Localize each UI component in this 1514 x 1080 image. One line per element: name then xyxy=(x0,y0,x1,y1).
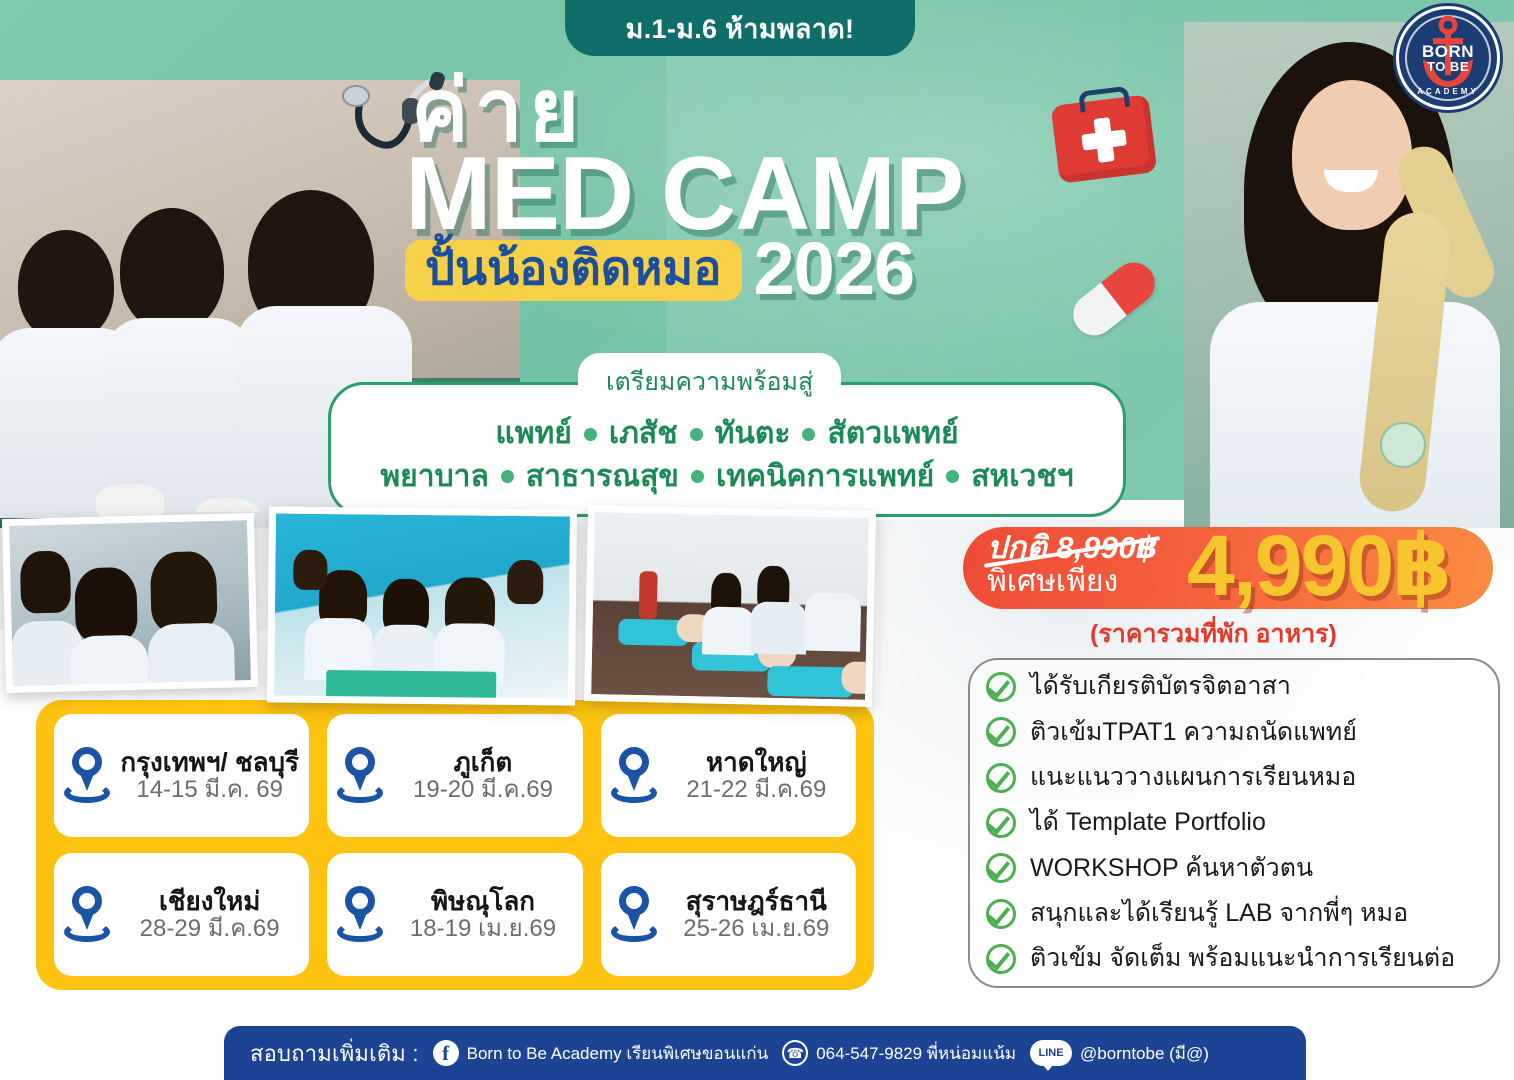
gallery-photo-3 xyxy=(584,505,876,707)
location-card[interactable]: สุราษฎร์ธานี 25-26 เม.ย.69 xyxy=(601,853,856,976)
map-pin-icon xyxy=(60,884,114,946)
headline-thai-sub: ปั้นน้องติดหมอ xyxy=(405,240,742,301)
headline-block: ค่าย MED CAMP ปั้นน้องติดหมอ 2026 xyxy=(405,72,1105,301)
benefit-item: ได้ Template Portfolio xyxy=(986,808,1482,838)
facebook-text: Born to Be Academy เรียนพิเศษขอนแก่น xyxy=(467,1040,769,1067)
fields-row-1: แพทย์ เภสัช ทันตะ สัตวแพทย์ xyxy=(347,413,1107,456)
location-name: สุราษฎร์ธานี xyxy=(686,887,827,915)
line-contact[interactable]: LINE @borntobe (มี@) xyxy=(1030,1040,1209,1067)
fields-row-2: พยาบาล สาธารณสุข เทคนิคการแพทย์ สหเวชฯ xyxy=(347,456,1107,499)
price-badge: ปกติ 8,990฿ พิเศษเพียง 4,990฿ xyxy=(963,527,1493,609)
top-banner-text: ม.1-ม.6 ห้ามพลาด! xyxy=(626,7,855,50)
location-name: พิษณุโลก xyxy=(431,887,535,915)
logo-badge: BORN TO BE ACADEMY xyxy=(1396,6,1500,110)
location-card[interactable]: เชียงใหม่ 28-29 มี.ค.69 xyxy=(54,853,309,976)
location-date: 21-22 มี.ค.69 xyxy=(686,777,826,803)
logo-line1: BORN xyxy=(1422,43,1474,60)
location-date: 25-26 เม.ย.69 xyxy=(683,916,829,942)
bullet-dot-icon xyxy=(584,428,597,441)
bullet-dot-icon xyxy=(946,470,959,483)
benefit-item: ติวเข้มTPAT1 ความถนัดแพทย์ xyxy=(986,717,1482,747)
map-pin-icon xyxy=(333,745,387,807)
prep-label-text: เตรียมความพร้อมสู่ xyxy=(606,368,813,396)
field-item: สาธารณสุข xyxy=(526,456,679,499)
field-item: เภสัช xyxy=(609,413,678,456)
field-item: แพทย์ xyxy=(495,413,571,456)
benefit-text: ได้รับเกียรติบัตรจิตอาสา xyxy=(1030,672,1291,702)
prep-label-pill: เตรียมความพร้อมสู่ xyxy=(578,353,841,411)
field-item: พยาบาล xyxy=(380,456,488,499)
benefit-text: ติวเข้ม จัดเต็ม พร้อมแนะนำการเรียนต่อ xyxy=(1030,944,1455,974)
check-circle-icon xyxy=(986,763,1016,793)
check-circle-icon xyxy=(986,717,1016,747)
check-circle-icon xyxy=(986,944,1016,974)
poster-root: ม.1-ม.6 ห้ามพลาด! BORN TO BE ACADEMY ค่า… xyxy=(0,0,1514,1080)
location-card[interactable]: หาดใหญ่ 21-22 มี.ค.69 xyxy=(601,714,856,837)
check-circle-icon xyxy=(986,808,1016,838)
benefit-item: สนุกและได้เรียนรู้ LAB จากพี่ๆ หมอ xyxy=(986,899,1482,929)
benefit-text: ได้ Template Portfolio xyxy=(1030,808,1266,838)
facebook-contact[interactable]: f Born to Be Academy เรียนพิเศษขอนแก่น xyxy=(433,1040,769,1067)
bullet-dot-icon xyxy=(501,470,514,483)
phone-contact[interactable]: ☎ 064-547-9829 พี่หน่อมแน้ม xyxy=(782,1040,1016,1067)
benefits-panel: ได้รับเกียรติบัตรจิตอาสา ติวเข้มTPAT1 คว… xyxy=(968,658,1500,988)
price-original: ปกติ 8,990฿ xyxy=(987,532,1158,565)
check-circle-icon xyxy=(986,899,1016,929)
map-pin-icon xyxy=(60,745,114,807)
gallery-photo-1 xyxy=(2,513,258,693)
location-card[interactable]: พิษณุโลก 18-19 เม.ย.69 xyxy=(327,853,582,976)
phone-icon: ☎ xyxy=(782,1040,808,1066)
location-date: 19-20 มี.ค.69 xyxy=(413,777,553,803)
field-item: เทคนิคการแพทย์ xyxy=(716,456,934,499)
field-item: สัตวแพทย์ xyxy=(827,413,958,456)
location-card[interactable]: กรุงเทพฯ/ ชลบุรี 14-15 มี.ค. 69 xyxy=(54,714,309,837)
benefit-item: ได้รับเกียรติบัตรจิตอาสา xyxy=(986,672,1482,702)
check-circle-icon xyxy=(986,672,1016,702)
gallery-photo-2 xyxy=(267,506,577,705)
field-item: สหเวชฯ xyxy=(971,456,1073,499)
field-item: ทันตะ xyxy=(715,413,791,456)
location-card[interactable]: ภูเก็ต 19-20 มี.ค.69 xyxy=(327,714,582,837)
price-note: (ราคารวมที่พัก อาหาร) xyxy=(1090,614,1337,654)
location-name: กรุงเทพฯ/ ชลบุรี xyxy=(120,748,299,776)
benefit-item: WORKSHOP ค้นหาตัวตน xyxy=(986,853,1482,883)
logo-academy-text: ACADEMY xyxy=(1399,87,1497,96)
benefit-text: แนะแนววางแผนการเรียนหมอ xyxy=(1030,763,1356,793)
logo-line2: TO BE xyxy=(1422,60,1474,73)
bullet-dot-icon xyxy=(802,428,815,441)
bullet-dot-icon xyxy=(691,470,704,483)
locations-panel: กรุงเทพฯ/ ชลบุรี 14-15 มี.ค. 69 ภูเก็ต 1… xyxy=(36,700,874,990)
map-pin-icon xyxy=(607,884,661,946)
location-name: หาดใหญ่ xyxy=(706,748,807,776)
headline-year: 2026 xyxy=(754,237,915,301)
location-date: 14-15 มี.ค. 69 xyxy=(136,777,283,803)
benefit-text: ติวเข้มTPAT1 ความถนัดแพทย์ xyxy=(1030,718,1357,748)
top-banner-pill: ม.1-ม.6 ห้ามพลาด! xyxy=(565,0,915,56)
benefit-text: สนุกและได้เรียนรู้ LAB จากพี่ๆ หมอ xyxy=(1030,899,1408,929)
check-circle-icon xyxy=(986,853,1016,883)
benefit-item: แนะแนววางแผนการเรียนหมอ xyxy=(986,763,1482,793)
location-name: ภูเก็ต xyxy=(454,748,513,776)
location-name: เชียงใหม่ xyxy=(159,887,260,915)
contact-label: สอบถามเพิ่มเติม : xyxy=(250,1036,419,1071)
map-pin-icon xyxy=(607,745,661,807)
bullet-dot-icon xyxy=(690,428,703,441)
phone-text: 064-547-9829 พี่หน่อมแน้ม xyxy=(816,1040,1016,1067)
line-text: @borntobe (มี@) xyxy=(1080,1040,1209,1067)
price-amount: 4,990฿ xyxy=(1187,523,1450,609)
location-date: 18-19 เม.ย.69 xyxy=(410,916,556,942)
line-icon: LINE xyxy=(1030,1040,1072,1066)
contact-footer: สอบถามเพิ่มเติม : f Born to Be Academy เ… xyxy=(224,1026,1306,1080)
location-date: 28-29 มี.ค.69 xyxy=(140,916,280,942)
benefit-text: WORKSHOP ค้นหาตัวตน xyxy=(1030,854,1313,884)
benefit-item: ติวเข้ม จัดเต็ม พร้อมแนะนำการเรียนต่อ xyxy=(986,944,1482,974)
facebook-icon: f xyxy=(433,1040,459,1066)
map-pin-icon xyxy=(333,884,387,946)
